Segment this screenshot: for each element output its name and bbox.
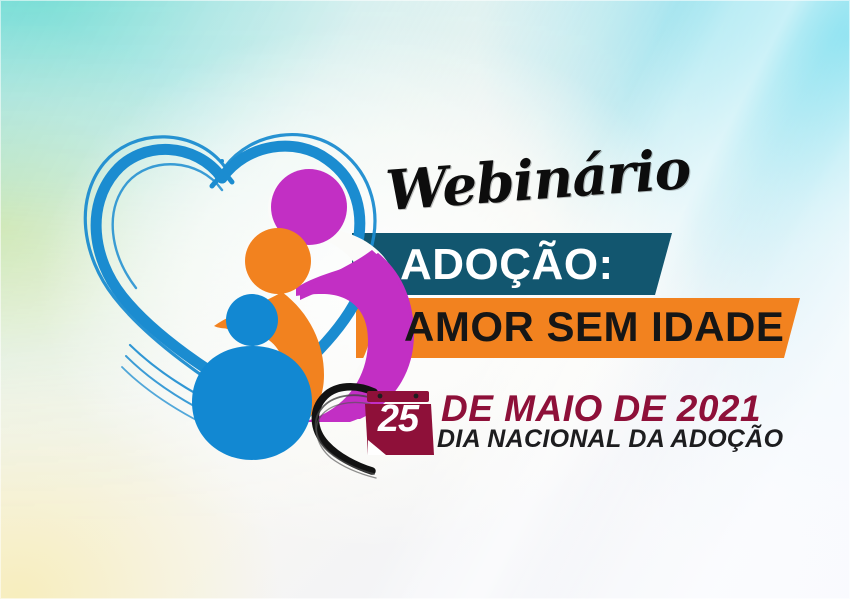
poster-canvas: Webinário ADOÇÃO: AMOR SEM IDADE 25 DE M… xyxy=(0,0,850,599)
poster-border xyxy=(0,0,850,599)
